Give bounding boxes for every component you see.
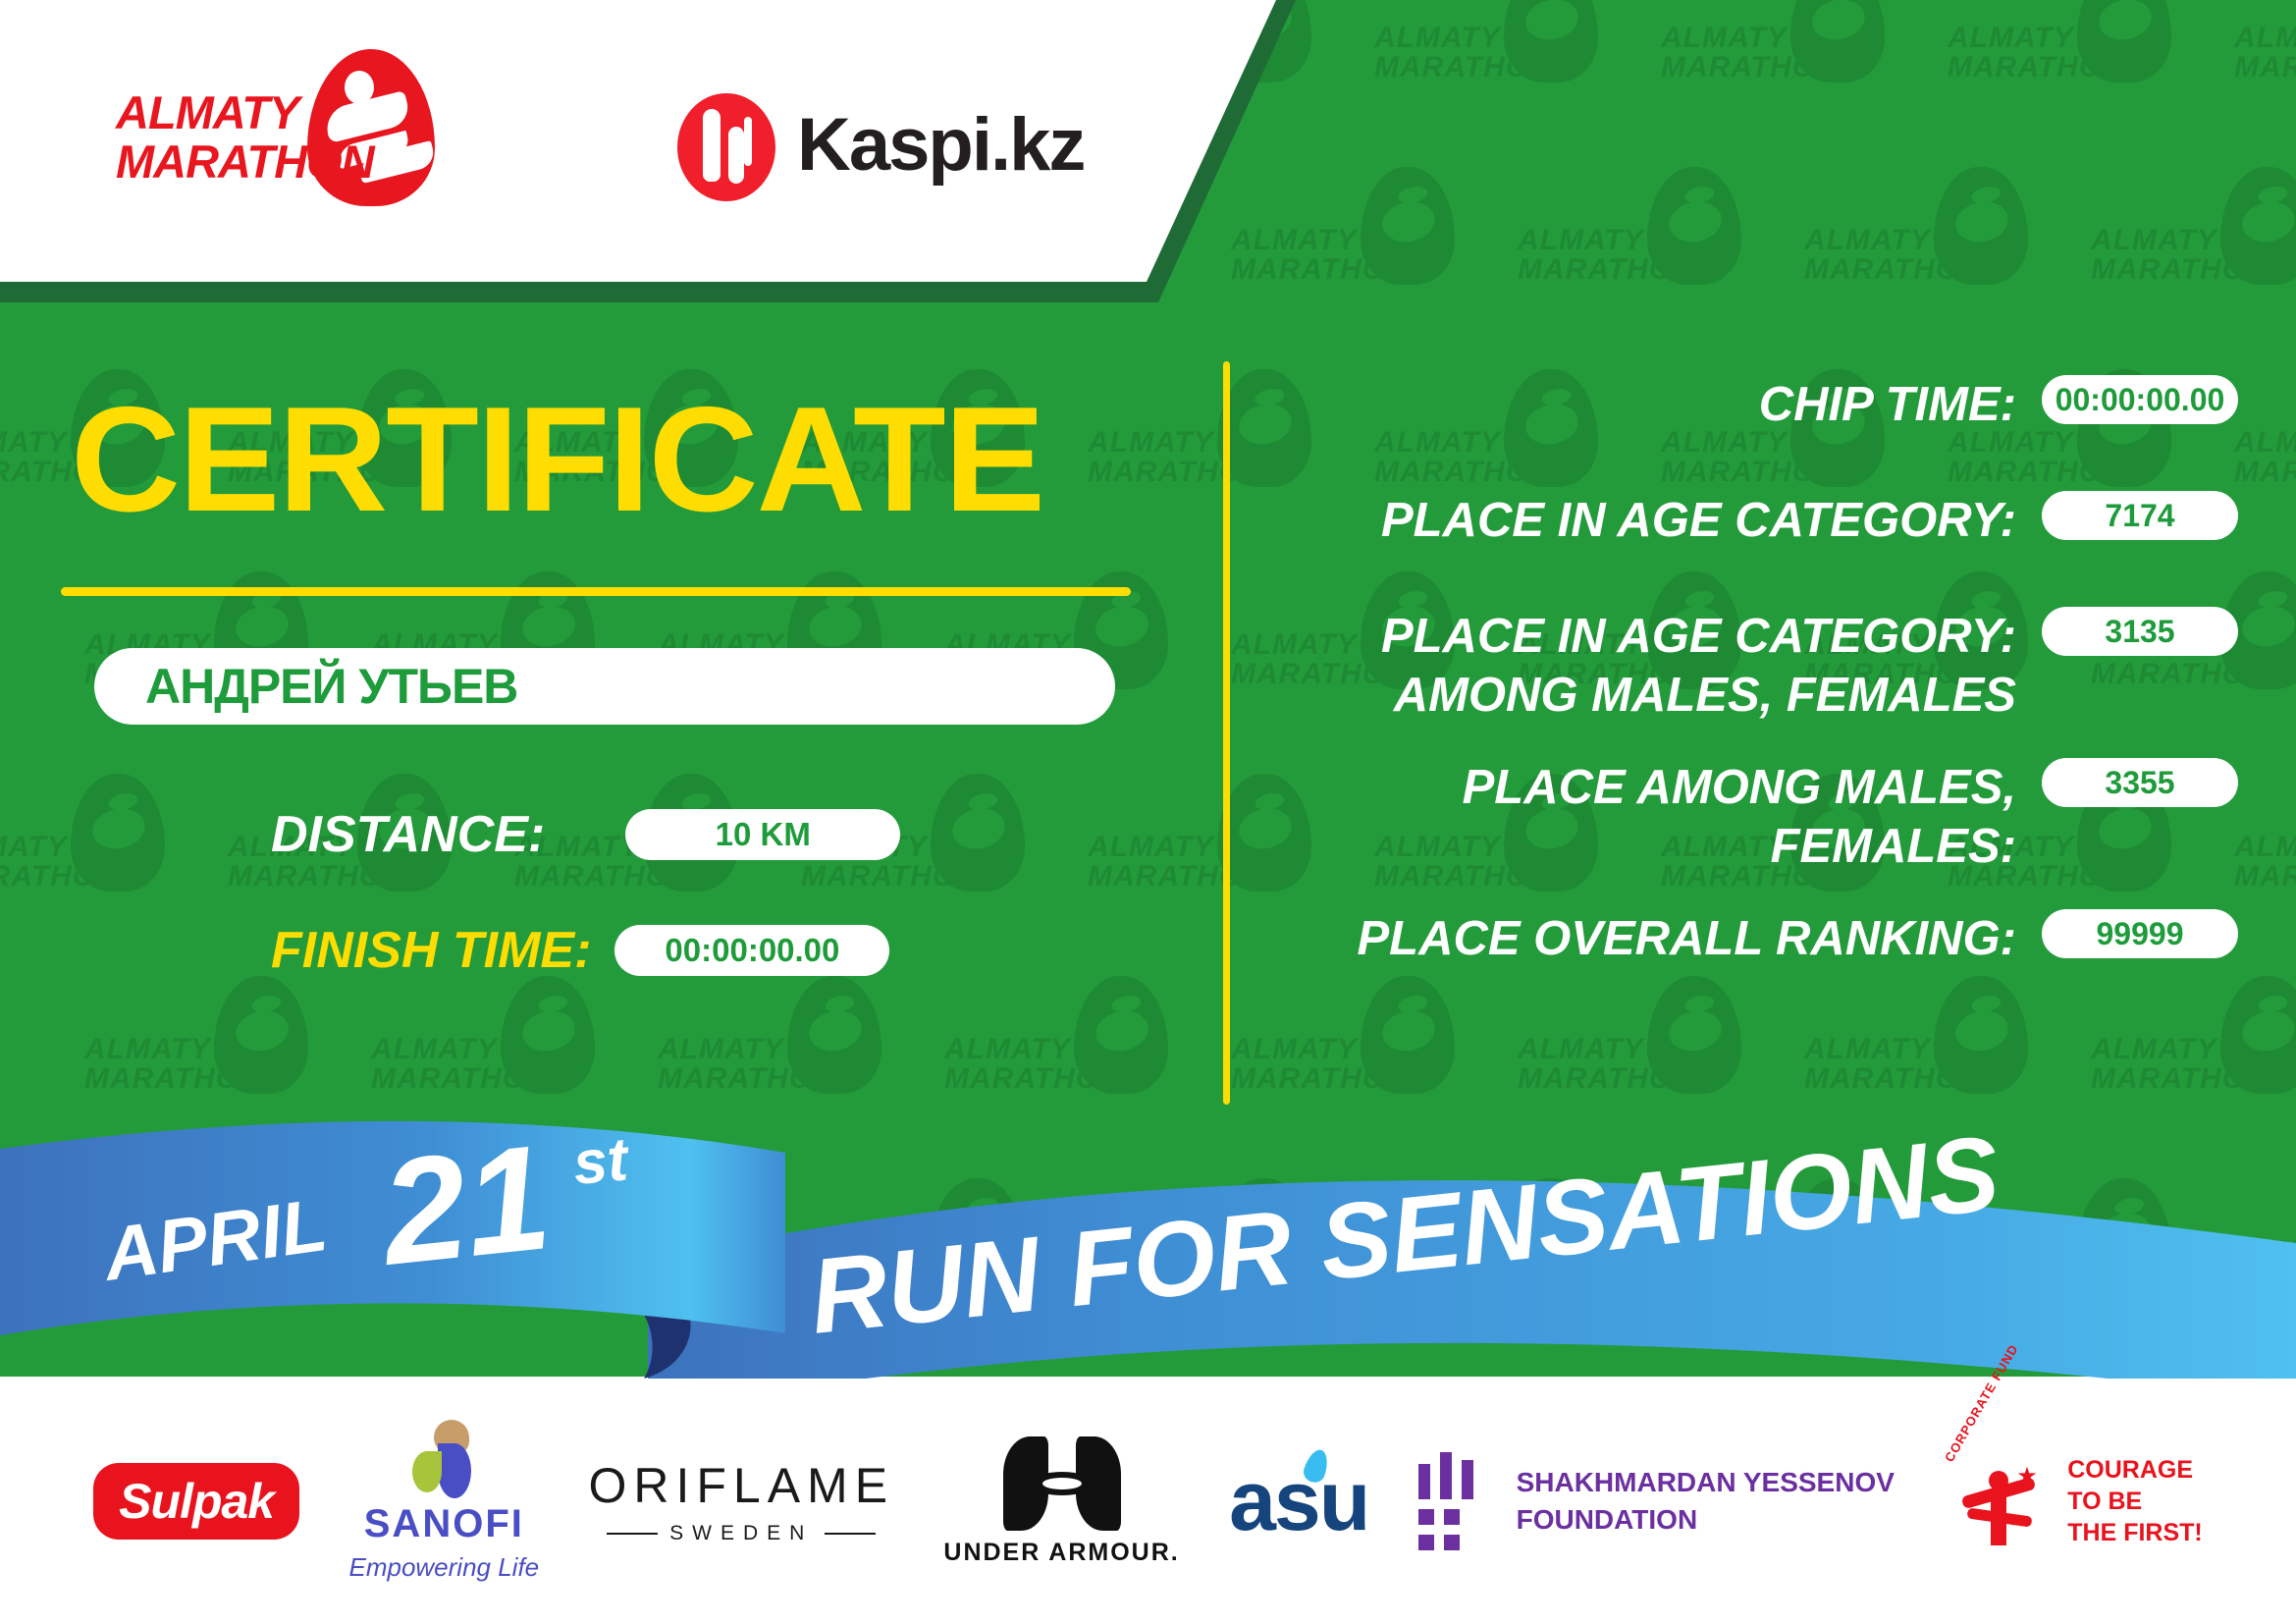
watermark-text: ALMATY MARATHON: [2091, 1035, 2268, 1094]
sponsor-asu[interactable]: asu: [1229, 1453, 1368, 1550]
asu-logo-text: asu: [1229, 1453, 1368, 1550]
stat-value: 3135: [2042, 607, 2238, 656]
sanofi-logo-text: SANOFI: [364, 1502, 524, 1546]
watermark-text: ALMATY MARATHON: [1948, 24, 2124, 82]
sulpak-logo-text: Sulpak: [93, 1463, 299, 1540]
watermark-tile: ALMATY MARATHON: [2234, 770, 2296, 966]
corporate-fund-slogan: COURAGE TO BE THE FIRST!: [2067, 1454, 2203, 1548]
watermark-tile: ALMATY MARATHON: [0, 770, 196, 966]
corporate-fund-figure-icon: CORPORATE FUND ★: [1944, 1447, 2052, 1555]
sponsor-corporate-fund[interactable]: CORPORATE FUND ★ COURAGE TO BE THE FIRST…: [1944, 1447, 2203, 1555]
stat-label: PLACE IN AGE CATEGORY: AMONG MALES, FEMA…: [1266, 607, 2042, 725]
page-title: CERTIFICATE: [71, 385, 1043, 534]
yessenov-foundation-text: SHAKHMARDAN YESSENOV FOUNDATION: [1517, 1464, 1895, 1539]
results-stats-list: CHIP TIME:00:00:00.00PLACE IN AGE CATEGO…: [1266, 375, 2238, 1025]
stat-row: CHIP TIME:00:00:00.00: [1266, 375, 2238, 458]
stat-value: 3355: [2042, 758, 2238, 807]
watermark-tile: ALMATY MARATHON: [2234, 365, 2296, 562]
stat-value: 99999: [2042, 909, 2238, 958]
stat-label: PLACE AMONG MALES, FEMALES:: [1266, 758, 2042, 876]
header-panel: ALMATY MARATHON Kaspi.kz: [0, 0, 1296, 304]
finish-time-row: FINISH TIME: 00:00:00.00: [271, 921, 889, 980]
almaty-logo-line1: ALMATY: [116, 88, 374, 137]
watermark-text: ALMATY MARATHON: [1231, 1035, 1408, 1094]
oriflame-sub-text: SWEDEN: [607, 1522, 876, 1545]
watermark-tile: ALMATY MARATHON: [1661, 0, 1916, 157]
watermark-text: ALMATY MARATHON: [1088, 428, 1264, 487]
vertical-divider: [1223, 361, 1230, 1105]
stat-label: PLACE OVERALL RANKING:: [1266, 909, 2042, 968]
ribbon-day-number: 21: [372, 1113, 558, 1297]
watermark-tile: ALMATY MARATHON: [2234, 0, 2296, 157]
stat-label: PLACE IN AGE CATEGORY:: [1266, 491, 2042, 550]
watermark-text: ALMATY MARATHON: [2234, 428, 2296, 487]
stat-row: PLACE OVERALL RANKING:99999: [1266, 909, 2238, 992]
watermark-text: ALMATY MARATHON: [1518, 226, 1694, 285]
stat-row: PLACE AMONG MALES, FEMALES:3355: [1266, 758, 2238, 876]
stat-row: PLACE IN AGE CATEGORY: AMONG MALES, FEMA…: [1266, 607, 2238, 725]
watermark-text: ALMATY MARATHON: [1374, 24, 1551, 82]
sponsor-oriflame[interactable]: ORIFLAME SWEDEN: [588, 1457, 894, 1545]
watermark-text: ALMATY MARATHON: [2091, 226, 2268, 285]
distance-value: 10 KM: [625, 809, 900, 860]
participant-name-value: АНДРЕЙ УТЬЕВ: [145, 658, 517, 715]
sponsor-sanofi[interactable]: SANOFI Empowering Life: [348, 1420, 539, 1583]
kaspi-logo[interactable]: Kaspi.kz: [677, 93, 1090, 201]
watermark-text: ALMATY MARATHON: [658, 1035, 834, 1094]
title-underline: [61, 587, 1131, 596]
watermark-text: ALMATY MARATHON: [1804, 1035, 1981, 1094]
under-armour-icon: [1003, 1436, 1121, 1531]
certificate-page: ALMATY MARATHONALMATY MARATHONALMATY MAR…: [0, 0, 2296, 1624]
yessenov-foundation-icon: [1418, 1452, 1493, 1550]
ribbon-day-ordinal: st: [570, 1125, 632, 1198]
watermark-tile: ALMATY MARATHON: [1374, 0, 1629, 157]
stat-value: 00:00:00.00: [2042, 375, 2238, 424]
sanofi-petal-icon: [404, 1420, 483, 1498]
watermark-text: ALMATY MARATHON: [2234, 24, 2296, 82]
watermark-text: ALMATY MARATHON: [84, 1035, 261, 1094]
under-armour-logo-text: UNDER ARMOUR.: [943, 1539, 1179, 1567]
watermark-text: ALMATY MARATHON: [1518, 1035, 1694, 1094]
almaty-logo-line2: MARATHON: [116, 137, 374, 187]
watermark-text: ALMATY MARATHON: [1088, 833, 1264, 892]
finish-time-label: FINISH TIME:: [271, 921, 591, 980]
sponsor-under-armour[interactable]: UNDER ARMOUR.: [943, 1436, 1179, 1567]
watermark-tile: ALMATY MARATHON: [1948, 0, 2203, 157]
watermark-text: ALMATY MARATHON: [371, 1035, 548, 1094]
oriflame-logo-text: ORIFLAME: [588, 1457, 894, 1514]
stat-value: 7174: [2042, 491, 2238, 540]
watermark-text: ALMATY MARATHON: [1661, 24, 1838, 82]
distance-row: DISTANCE: 10 KM: [271, 805, 900, 864]
watermark-text: ALMATY MARATHON: [1804, 226, 1981, 285]
sponsor-sulpak[interactable]: Sulpak: [93, 1463, 299, 1540]
finish-time-value: 00:00:00.00: [614, 925, 889, 976]
watermark-text: ALMATY MARATHON: [944, 1035, 1121, 1094]
watermark-tile: ALMATY MARATHON: [1518, 163, 1773, 359]
almaty-marathon-logo-text: ALMATY MARATHON: [116, 88, 374, 187]
watermark-text: ALMATY MARATHON: [0, 833, 118, 892]
kaspi-logo-text: Kaspi.kz: [797, 101, 1084, 189]
participant-name-field[interactable]: АНДРЕЙ УТЬЕВ: [94, 648, 1115, 725]
oriflame-sub-value: SWEDEN: [669, 1522, 813, 1545]
sponsor-shakhmardan-yessenov-foundation[interactable]: SHAKHMARDAN YESSENOV FOUNDATION: [1418, 1452, 1895, 1550]
kaspi-people-icon: [677, 93, 775, 201]
event-ribbon: APRIL 21 st RUN FOR SENSATIONS: [0, 1088, 2296, 1412]
distance-label: DISTANCE:: [271, 805, 545, 864]
sponsor-strip: Sulpak SANOFI Empowering Life ORIFLAME S…: [0, 1379, 2296, 1624]
sanofi-tagline: Empowering Life: [348, 1552, 539, 1583]
watermark-tile: ALMATY MARATHON: [2091, 163, 2296, 359]
almaty-marathon-logo[interactable]: ALMATY MARATHON: [116, 47, 440, 204]
stat-label: CHIP TIME:: [1266, 375, 2042, 434]
watermark-text: ALMATY MARATHON: [2234, 833, 2296, 892]
stat-row: PLACE IN AGE CATEGORY:7174: [1266, 491, 2238, 573]
watermark-tile: ALMATY MARATHON: [1804, 163, 2059, 359]
